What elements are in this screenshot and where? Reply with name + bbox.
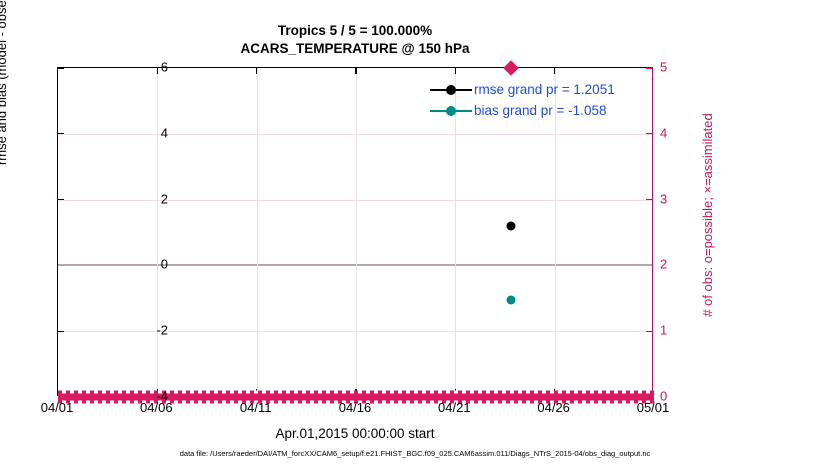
tick-mark-x-top <box>554 68 555 74</box>
y-tick-label-right: 3 <box>660 191 667 206</box>
legend-item-rmse: rmse grand pr = 1.2051 <box>430 80 615 99</box>
chart-title-line-2: ACARS_TEMPERATURE @ 150 hPa <box>57 40 653 58</box>
data-file-note: data file: /Users/raeder/DAI/ATM_forcXX/… <box>0 449 830 458</box>
legend-label-rmse: rmse grand pr = 1.2051 <box>472 82 615 97</box>
x-axis-title: Apr.01,2015 00:00:00 start <box>57 426 653 441</box>
y-tick-label-right: 2 <box>660 257 667 272</box>
tick-mark-y-right <box>646 199 652 200</box>
tick-mark-y-right <box>646 67 652 68</box>
chart-title: Tropics 5 / 5 = 100.000% ACARS_TEMPERATU… <box>57 22 653 58</box>
tick-mark-y-left <box>58 199 64 200</box>
tick-mark-x-top <box>157 68 158 74</box>
legend-swatch-bias <box>430 104 472 118</box>
y-tick-label-left: 2 <box>161 191 168 206</box>
y-tick-label-right: 1 <box>660 323 667 338</box>
zero-reference-line <box>58 264 652 266</box>
legend-item-bias: bias grand pr = -1.058 <box>430 101 615 120</box>
tick-mark-x-top <box>355 68 356 74</box>
tick-mark-y-left <box>58 331 64 332</box>
legend: rmse grand pr = 1.2051 bias grand pr = -… <box>430 80 615 120</box>
x-tick-label: 04/26 <box>537 400 570 415</box>
tick-mark-x-top <box>455 68 456 74</box>
y-tick-label-left: -2 <box>156 323 168 338</box>
x-tick-label: 04/01 <box>41 400 74 415</box>
tick-mark-y-left <box>58 67 64 68</box>
y-tick-label-left: 0 <box>161 257 168 272</box>
figure-canvas: Tropics 5 / 5 = 100.000% ACARS_TEMPERATU… <box>0 0 830 470</box>
gridline-horizontal <box>58 134 652 135</box>
x-tick-label: 04/06 <box>140 400 173 415</box>
gridline-vertical <box>356 68 357 395</box>
y-axis-title-left: rmse and bias (model - observation) <box>0 0 9 231</box>
y-tick-label-left: 4 <box>161 125 168 140</box>
gridline-vertical <box>157 68 158 395</box>
data-point-obs-count <box>503 60 519 76</box>
tick-mark-x-top <box>256 68 257 74</box>
x-tick-label: 04/21 <box>438 400 471 415</box>
tick-mark-y-right <box>646 331 652 332</box>
tick-mark-y-right <box>646 133 652 134</box>
legend-swatch-rmse <box>430 83 472 97</box>
y-tick-label-right: 5 <box>660 60 667 75</box>
gridline-horizontal <box>58 331 652 332</box>
y-tick-label-left: 6 <box>161 60 168 75</box>
legend-label-bias: bias grand pr = -1.058 <box>472 103 606 118</box>
data-point-bias <box>507 296 516 305</box>
y-tick-label-right: 4 <box>660 125 667 140</box>
tick-mark-y-left <box>58 133 64 134</box>
x-tick-label: 04/16 <box>339 400 372 415</box>
gridline-horizontal <box>58 200 652 201</box>
gridline-vertical <box>257 68 258 395</box>
x-tick-label: 04/11 <box>240 400 272 415</box>
data-point-rmse <box>507 221 516 230</box>
chart-title-line-1: Tropics 5 / 5 = 100.000% <box>57 22 653 40</box>
x-tick-label: 05/01 <box>637 400 670 415</box>
y-axis-title-right: # of obs: o=possible; ×=assimilated <box>700 45 715 385</box>
